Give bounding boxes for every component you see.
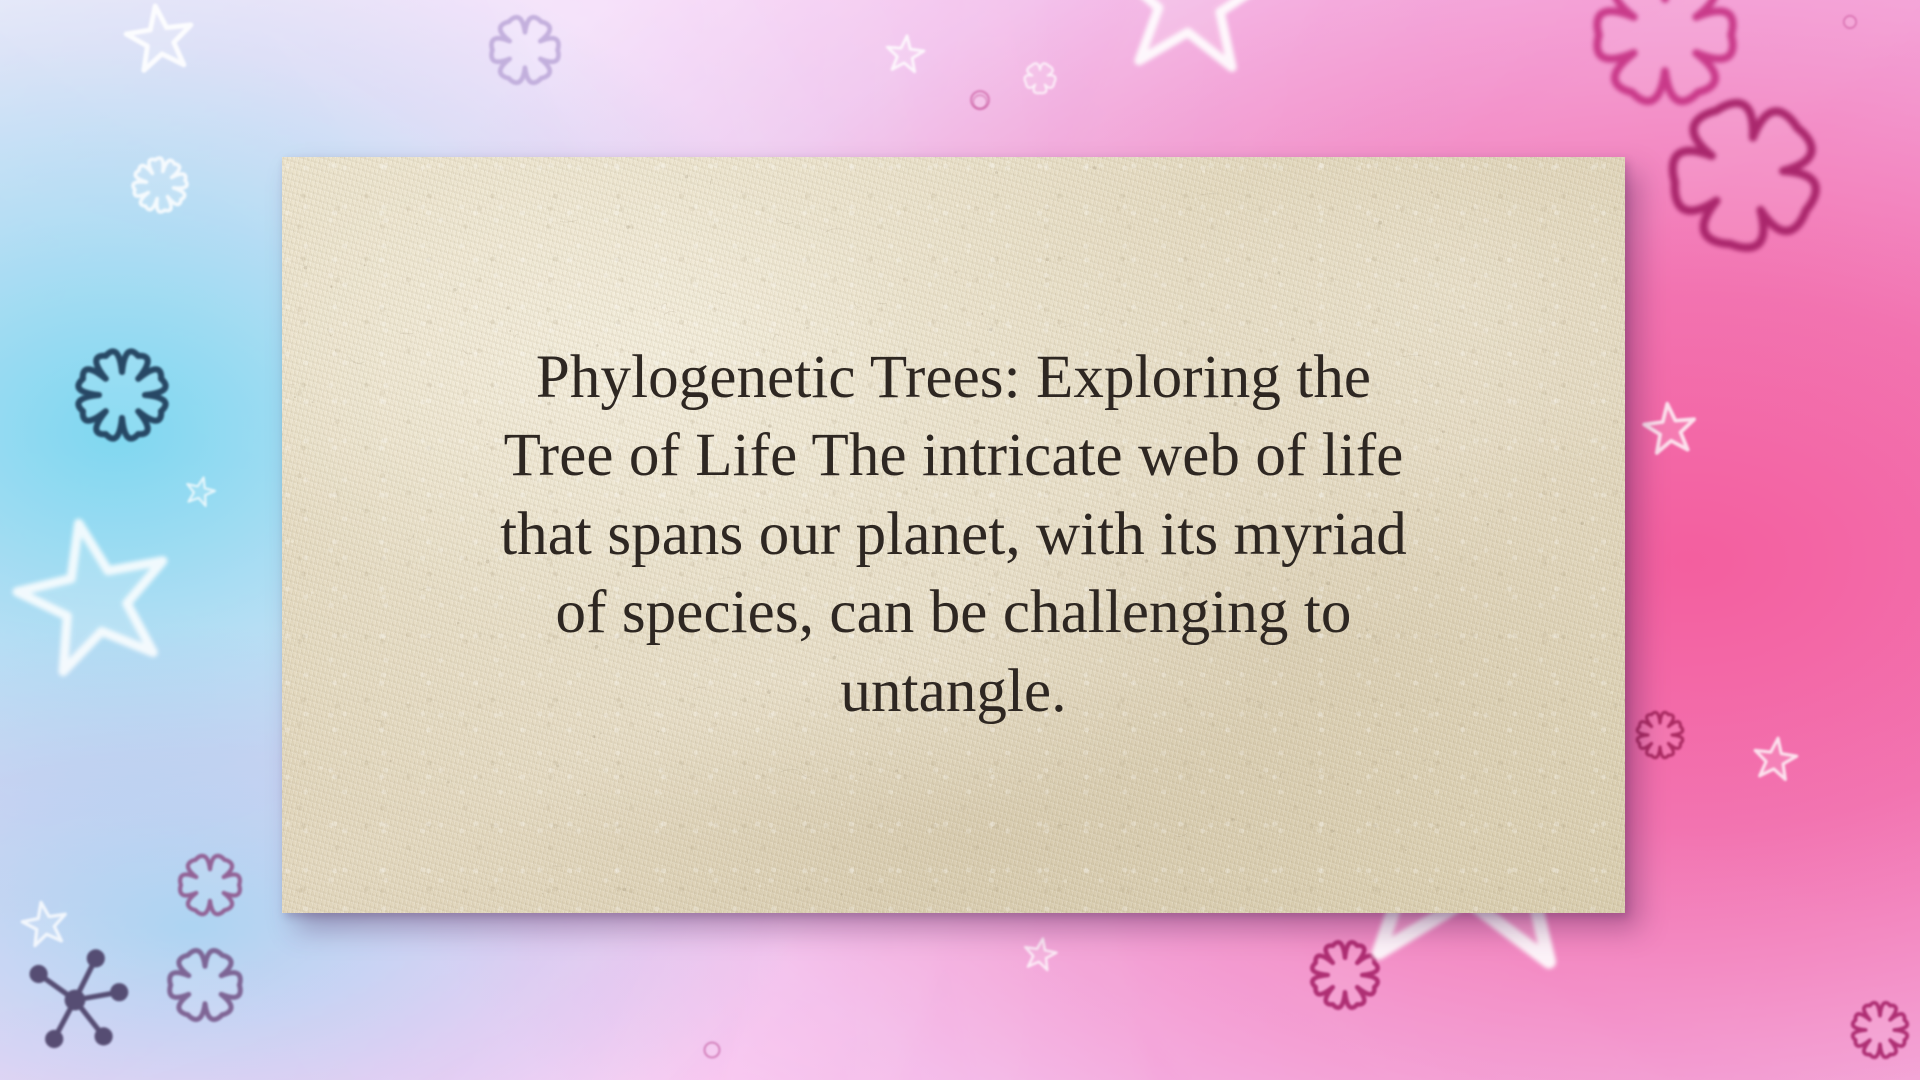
flower-outline-navy-left-icon <box>74 347 170 443</box>
flower-outline-cloud-left-icon <box>488 13 562 87</box>
star-outline-right-icon <box>1637 397 1703 463</box>
star-outline-top-left-icon <box>116 0 204 84</box>
star-big-top-center-icon <box>1094 0 1286 96</box>
slide-stage: Phylogenetic Trees: Exploring theTree of… <box>0 0 1920 1080</box>
flower-outline-bottom-left-icon <box>177 852 243 918</box>
star-small-left-icon <box>179 471 220 512</box>
flower-outline-top-left-icon <box>126 151 195 220</box>
card-body-text: Phylogenetic Trees: Exploring theTree of… <box>282 339 1625 731</box>
flower-outline-right-low-icon <box>1635 710 1685 760</box>
star-outline-right-low-icon <box>1747 732 1803 788</box>
card-text-line: untangle. <box>334 653 1573 731</box>
circle-outline-top-center-icon <box>967 87 993 113</box>
card-text-line: Phylogenetic Trees: Exploring the <box>334 339 1573 417</box>
card-text-line: Tree of Life The intricate web of life <box>334 417 1573 495</box>
paper-card: Phylogenetic Trees: Exploring theTree of… <box>282 157 1625 913</box>
star-outline-mid-top-icon <box>881 31 929 79</box>
card-text-line: that spans our planet, with its myriad <box>334 496 1573 574</box>
star-bottom-mid-icon <box>1018 933 1062 977</box>
circle-tiny-top-right-icon <box>1841 13 1859 31</box>
flower-outline-top-right-a-icon <box>1590 0 1740 110</box>
flower-outline-top-right-b-icon <box>1650 80 1840 270</box>
star-big-left-icon <box>0 494 201 705</box>
card-text-line: of species, can be challenging to <box>334 574 1573 652</box>
flower-small-top-center-icon <box>1023 61 1057 95</box>
flower-bottom-mid-icon <box>1309 939 1381 1011</box>
flower-bottom-right-icon <box>1850 1000 1910 1060</box>
star-small-bottom-left-icon <box>15 895 75 955</box>
flower-outline-bottom-left-b-icon <box>166 946 244 1024</box>
molecule-doodle-bottom-left-icon <box>10 935 140 1065</box>
circle-bottom-center-icon <box>701 1039 723 1061</box>
circle-mid-left-small-icon <box>970 92 990 112</box>
